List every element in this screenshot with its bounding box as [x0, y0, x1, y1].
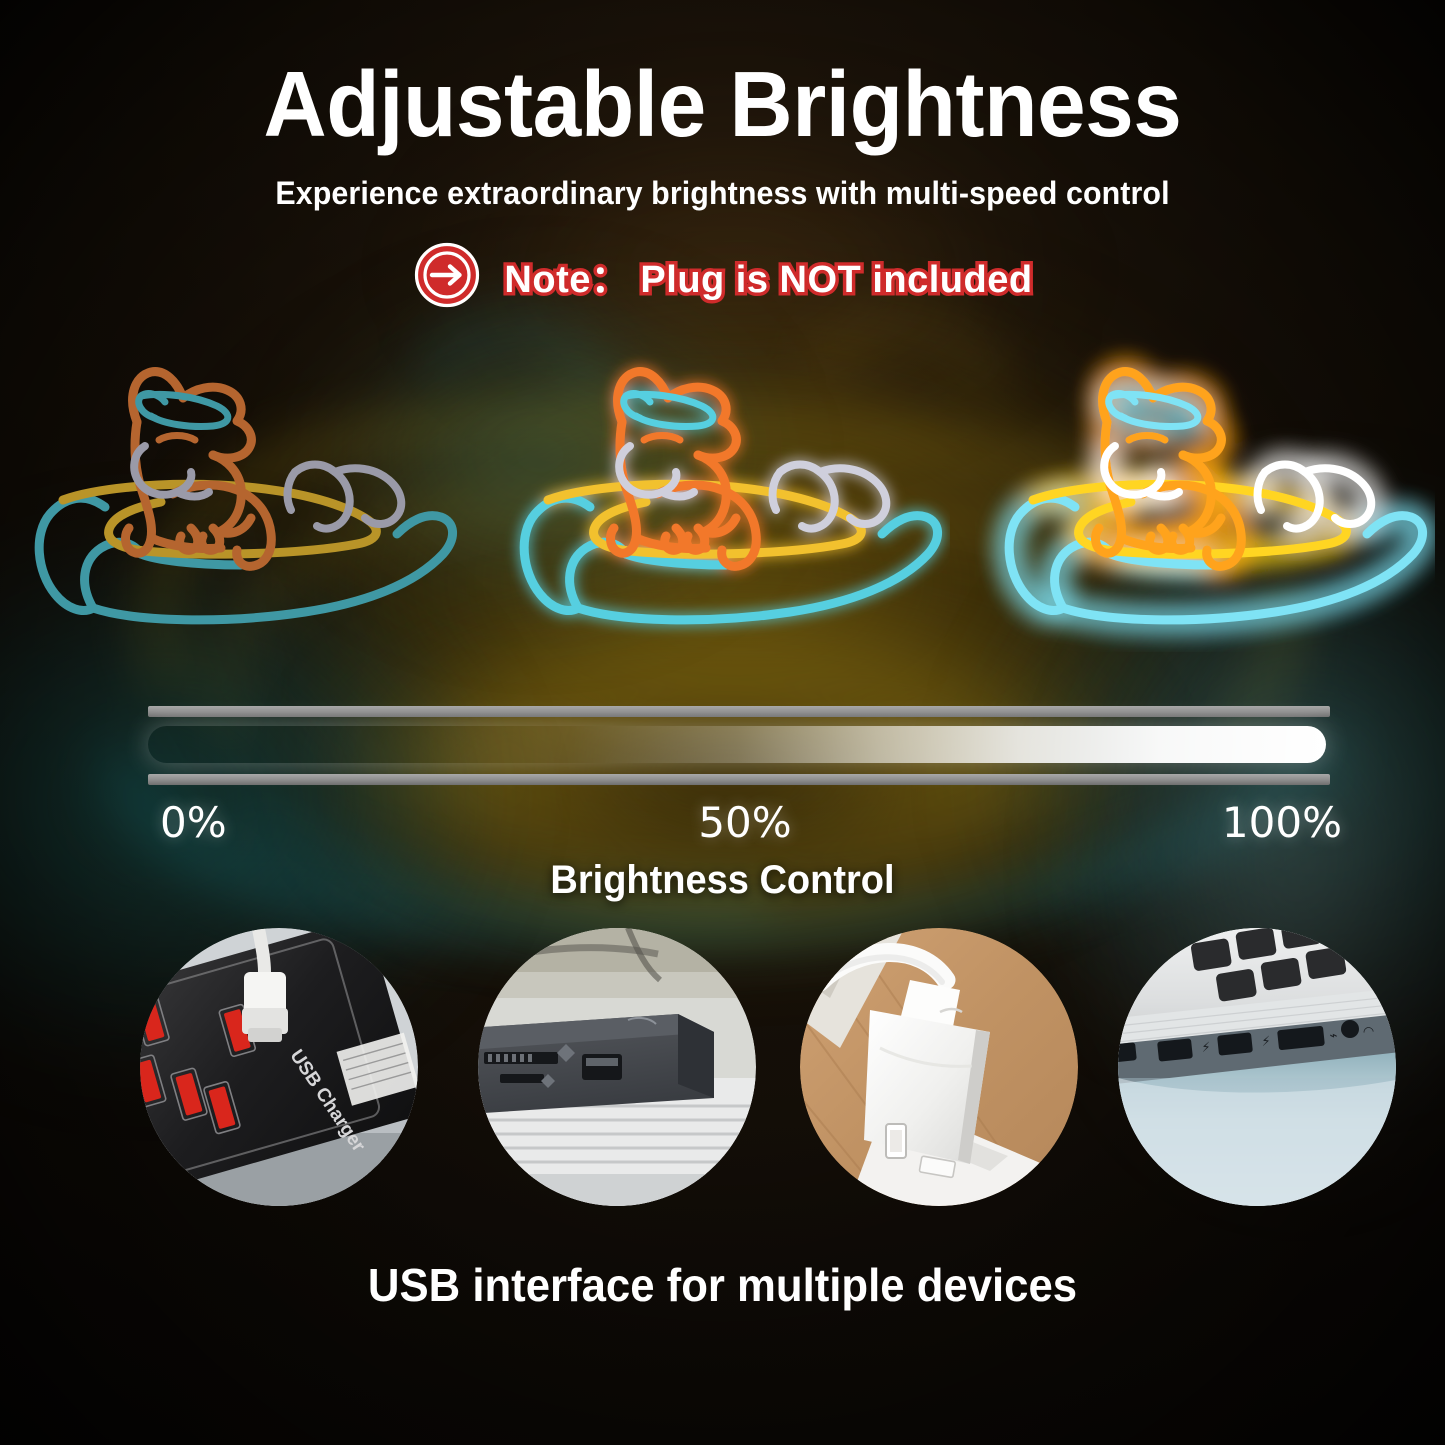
product-feature-banner: Adjustable Brightness Experience extraor…	[0, 0, 1445, 1445]
neon-figure-medium-brightness	[490, 322, 950, 652]
usb-wall-adapter-photo: NVR	[800, 928, 1078, 1206]
svg-text:⚡: ⚡	[1201, 1040, 1212, 1056]
page-subtitle: Experience extraordinary brightness with…	[36, 175, 1409, 212]
usb-photo-gallery: USB Charger	[0, 928, 1445, 1206]
slider-tick-mid: 50%	[698, 798, 791, 847]
laptop-usb-ports-photo: ⚡ ⚡ ⌁ ◠	[1118, 928, 1396, 1206]
circled-arrow-right-icon	[412, 240, 482, 310]
svg-text:◠: ◠	[1363, 1024, 1375, 1040]
svg-text:⌁: ⌁	[1329, 1028, 1338, 1044]
brightness-slider[interactable]	[148, 700, 1330, 792]
svg-text:NVR: NVR	[802, 928, 844, 965]
neon-figure-low-brightness	[5, 322, 465, 652]
usb-charger-hub-photo: USB Charger	[140, 928, 418, 1206]
note-banner: Note： Plug is NOT included	[0, 240, 1445, 310]
note-text: Note： Plug is NOT included	[504, 248, 1032, 303]
gallery-caption: USB interface for multiple devices	[36, 1258, 1409, 1312]
page-title: Adjustable Brightness	[43, 58, 1401, 151]
svg-text:⚡: ⚡	[1261, 1034, 1272, 1050]
slider-fill[interactable]	[148, 726, 1326, 763]
usb-card-reader-hub-photo	[478, 928, 756, 1206]
slider-tick-max: 100%	[1222, 798, 1342, 847]
neon-brightness-demo	[0, 322, 1445, 652]
neon-figure-full-brightness	[975, 322, 1435, 652]
slider-tick-min: 0%	[160, 798, 227, 847]
slider-rail-top	[148, 706, 1330, 717]
slider-rail-bottom	[148, 774, 1330, 785]
slider-caption: Brightness Control	[36, 858, 1409, 903]
slider-scale: 0% 50% 100%	[148, 798, 1342, 850]
